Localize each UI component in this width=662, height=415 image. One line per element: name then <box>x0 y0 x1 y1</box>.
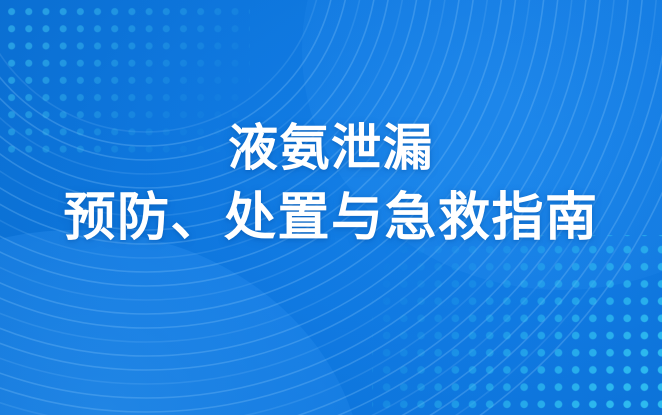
title-banner: 液氨泄漏 预防、处置与急救指南 <box>0 0 662 415</box>
banner-title-block: 液氨泄漏 预防、处置与急救指南 <box>0 0 662 415</box>
banner-title-line-2: 预防、处置与急救指南 <box>63 186 598 250</box>
banner-title-line-1: 液氨泄漏 <box>228 117 434 179</box>
